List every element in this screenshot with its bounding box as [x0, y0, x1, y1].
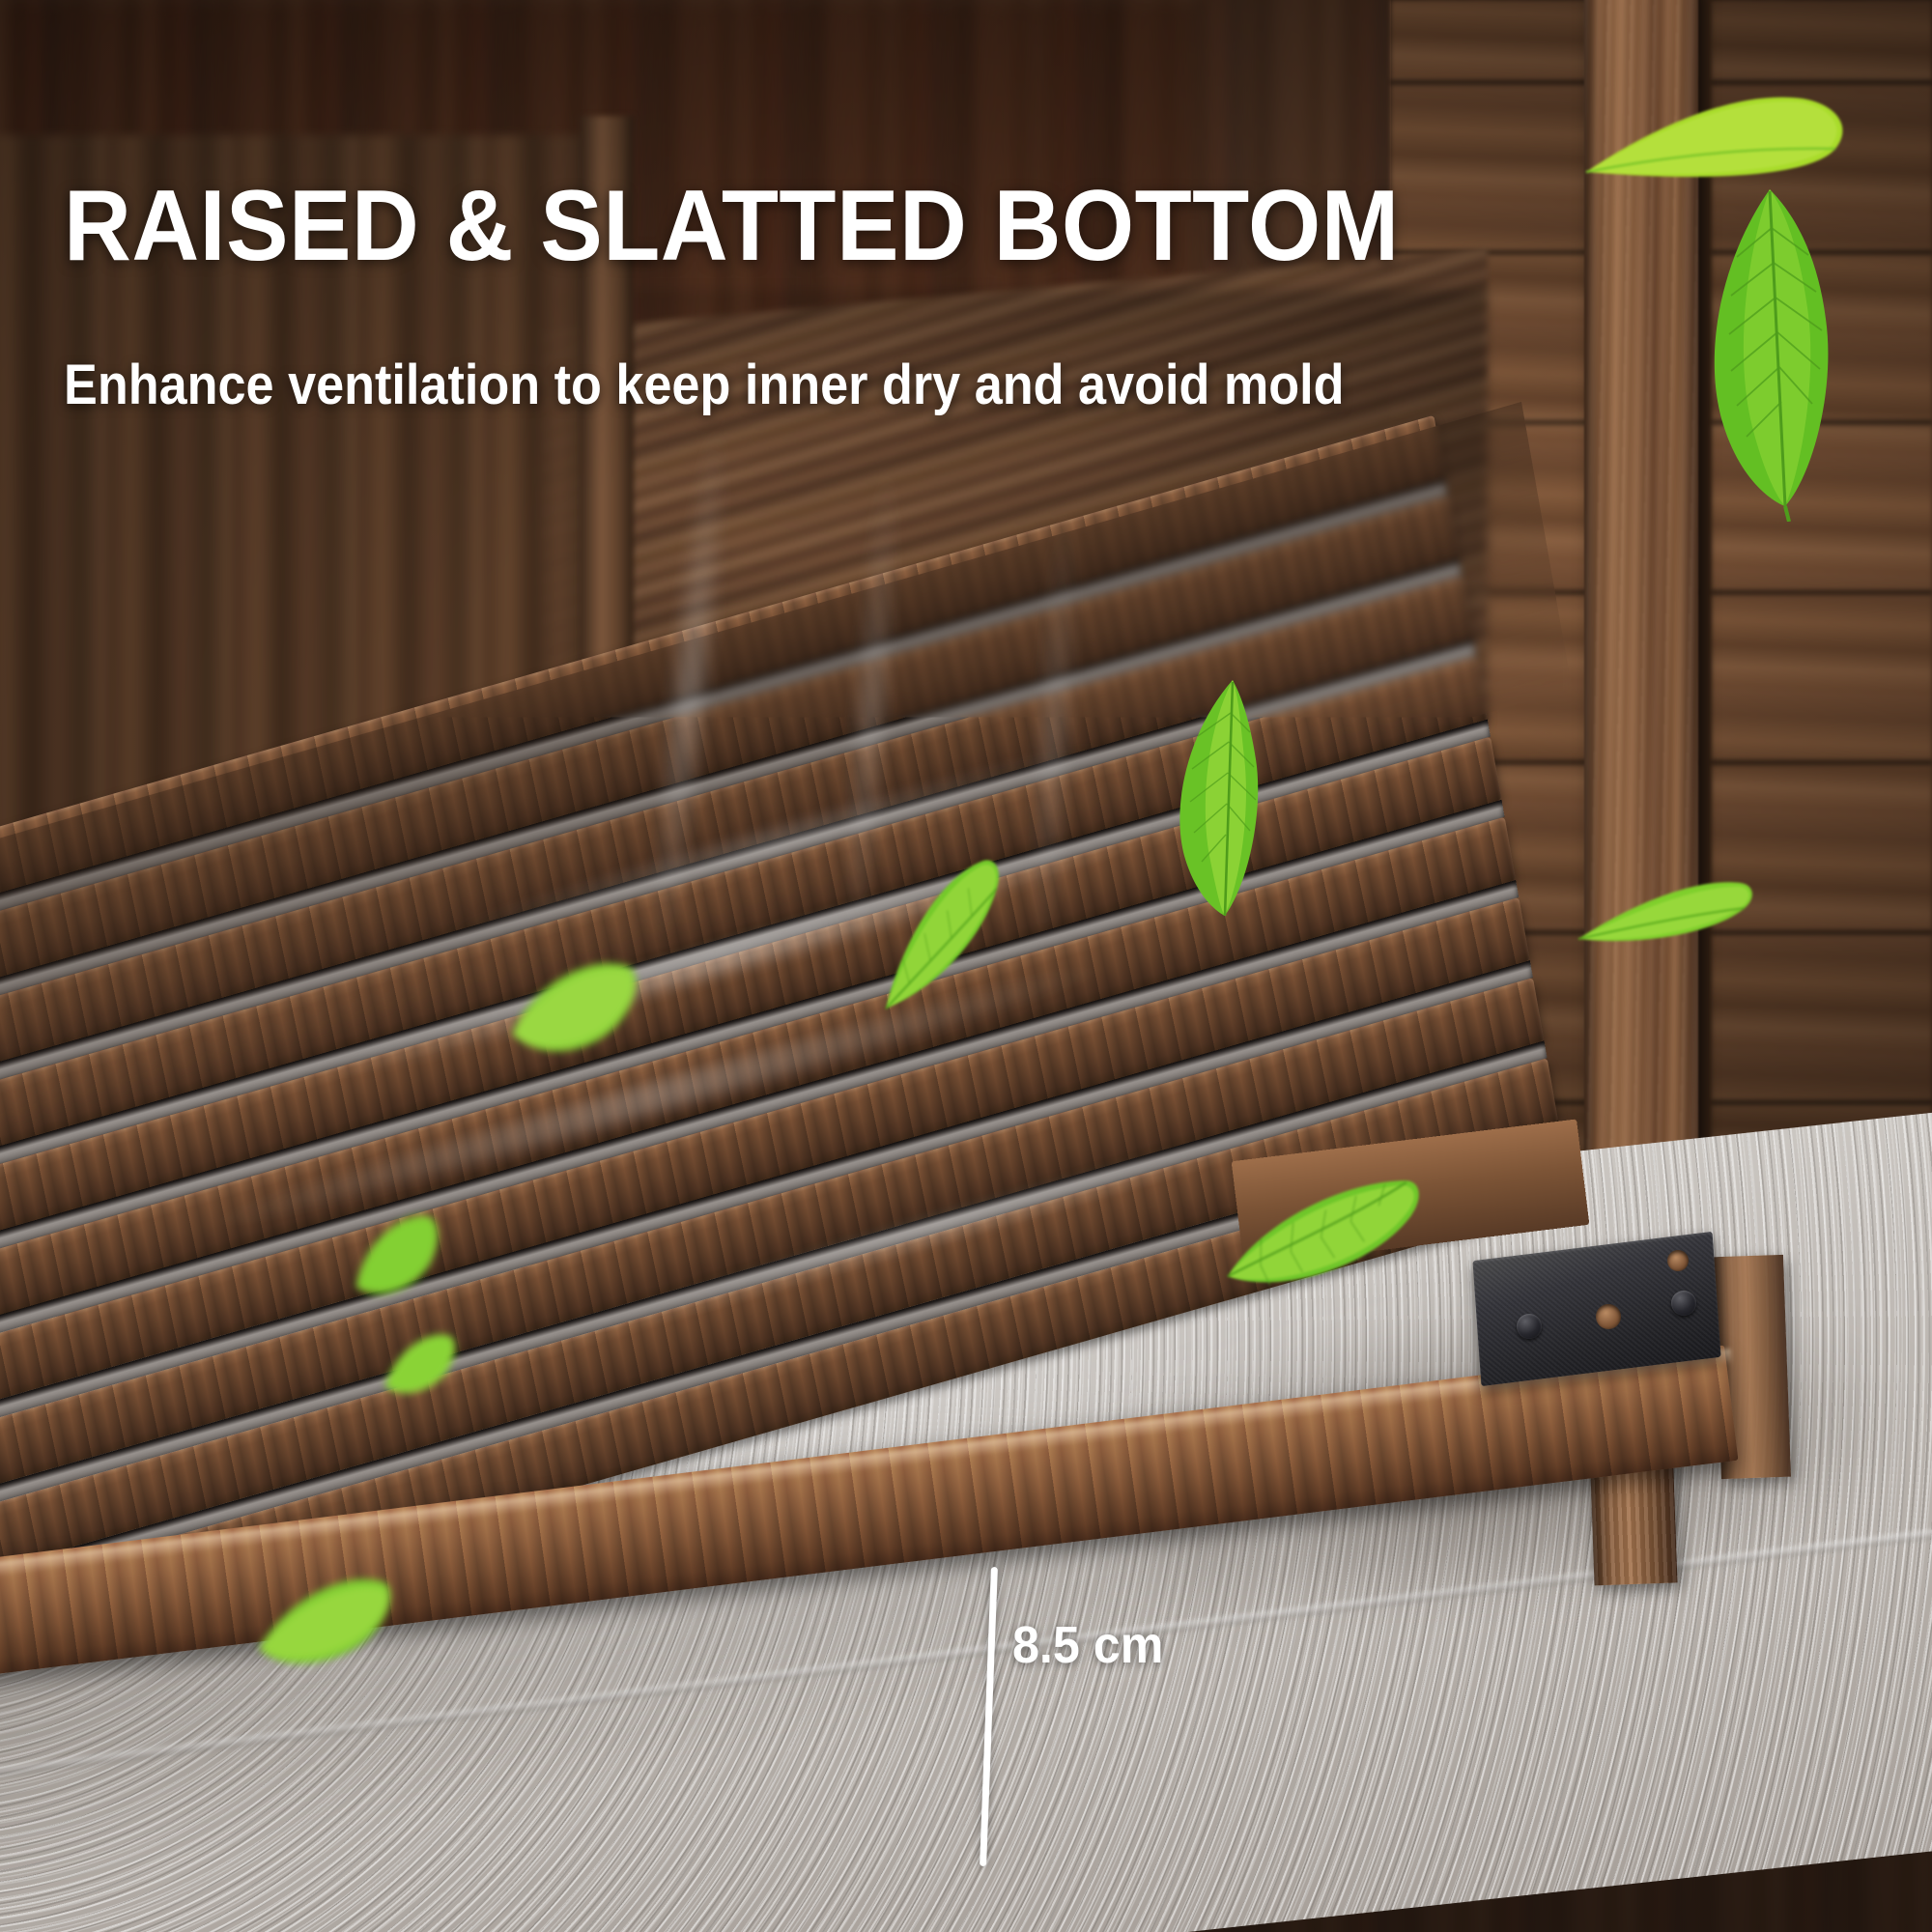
bracket-screw: [1517, 1314, 1542, 1339]
page-subtitle: Enhance ventilation to keep inner dry an…: [64, 357, 1345, 413]
bracket-hole: [1596, 1304, 1621, 1329]
product-feature-image: RAISED & SLATTED BOTTOM Enhance ventilat…: [0, 0, 1932, 1932]
bracket-hole: [1667, 1250, 1689, 1271]
corner-post-grain: [1584, 0, 1698, 1285]
dimension-label: 8.5 cm: [1012, 1615, 1163, 1675]
panel-seam-gap: [1696, 0, 1712, 1285]
page-title: RAISED & SLATTED BOTTOM: [64, 176, 1400, 276]
bracket-screw: [1671, 1291, 1696, 1316]
